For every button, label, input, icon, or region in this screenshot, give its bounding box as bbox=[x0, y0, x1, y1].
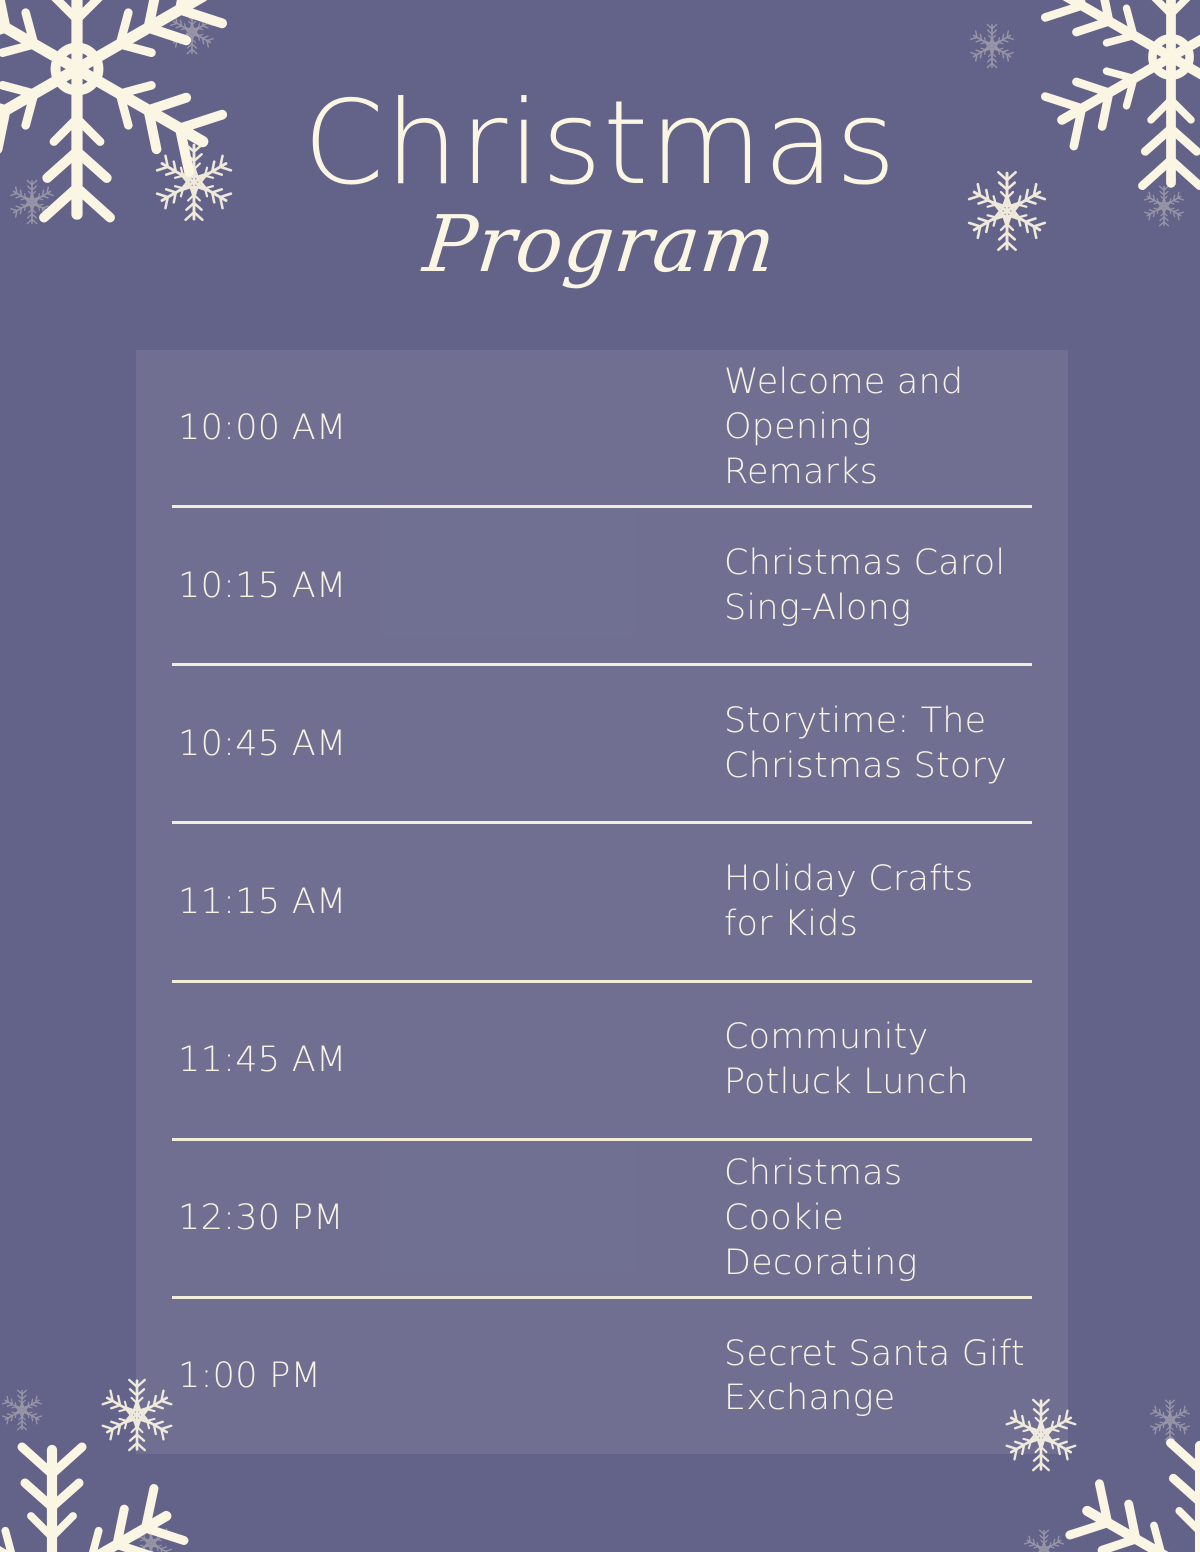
title-script-text: Program bbox=[0, 206, 1200, 284]
schedule-row-time: 12:30 PM bbox=[172, 1197, 602, 1239]
schedule-row: 10:15 AMChristmas Carol Sing-Along bbox=[172, 505, 1032, 663]
schedule-row: 10:00 AMWelcome and Opening Remarks bbox=[172, 350, 1032, 505]
schedule-row-time: 10:45 AM bbox=[172, 723, 602, 765]
schedule-row-time: 11:45 AM bbox=[172, 1039, 602, 1081]
schedule-row: 11:45 AMCommunity Potluck Lunch bbox=[172, 980, 1032, 1138]
schedule-row: 1:00 PMSecret Santa Gift Exchange bbox=[172, 1296, 1032, 1454]
schedule-row-description: Christmas Cookie Decorating bbox=[602, 1151, 1032, 1285]
schedule-row-list: 10:00 AMWelcome and Opening Remarks10:15… bbox=[136, 350, 1068, 1454]
schedule-row-description: Community Potluck Lunch bbox=[602, 1015, 1032, 1105]
schedule-row-time: 10:00 AM bbox=[172, 407, 602, 449]
snowflake-icon-bottom-right-tiny-2 bbox=[1022, 1528, 1066, 1552]
schedule-row-description: Holiday Crafts for Kids bbox=[602, 857, 1032, 947]
schedule-row-description: Secret Santa Gift Exchange bbox=[602, 1332, 1032, 1422]
schedule-row-time: 11:15 AM bbox=[172, 881, 602, 923]
schedule-row-time: 1:00 PM bbox=[172, 1355, 602, 1397]
schedule-row: 12:30 PMChristmas Cookie Decorating bbox=[172, 1138, 1032, 1296]
schedule-row: 11:15 AMHoliday Crafts for Kids bbox=[172, 821, 1032, 979]
snowflake-icon-top-right-tiny bbox=[968, 22, 1016, 70]
snowflake-icon-bottom-left-tiny bbox=[0, 1388, 44, 1432]
title-main-text: Christmas bbox=[0, 86, 1200, 202]
snowflake-icon-bottom-left-tiny-2 bbox=[128, 1520, 174, 1552]
schedule-row-time: 10:15 AM bbox=[172, 565, 602, 607]
schedule-row-description: Welcome and Opening Remarks bbox=[602, 360, 1032, 494]
schedule-row: 10:45 AMStorytime: The Christmas Story bbox=[172, 663, 1032, 821]
snowflake-icon-top-left-tiny bbox=[168, 8, 216, 56]
christmas-program-poster: Christmas Program 10:00 AMWelcome and Op… bbox=[0, 0, 1200, 1552]
snowflake-icon-bottom-right-tiny bbox=[1148, 1398, 1192, 1442]
snowflake-icon-bottom-right-large bbox=[1052, 1428, 1200, 1552]
poster-title: Christmas Program bbox=[0, 86, 1200, 284]
schedule-row-description: Storytime: The Christmas Story bbox=[602, 699, 1032, 789]
schedule-row-description: Christmas Carol Sing-Along bbox=[602, 541, 1032, 631]
schedule-panel: 10:00 AMWelcome and Opening Remarks10:15… bbox=[136, 350, 1068, 1454]
